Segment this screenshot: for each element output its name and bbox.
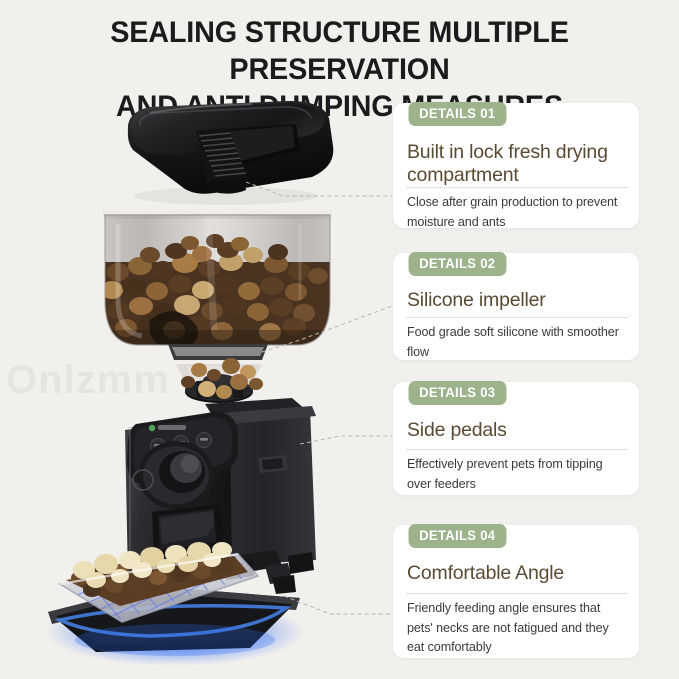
badge-details-04: DETAILS 04: [409, 524, 507, 548]
divider-3: [407, 449, 627, 450]
detail-heading-1: Built in lock fresh drying compartment: [407, 141, 627, 186]
divider-4: [407, 593, 627, 594]
lid-with-drying-compartment: [128, 101, 333, 205]
divider-2: [407, 317, 627, 318]
detail-heading-4: Comfortable Angle: [407, 562, 627, 585]
detail-body-4: Friendly feeding angle ensures that pets…: [407, 599, 629, 658]
food-hopper-with-kibble: [101, 210, 332, 360]
infographic-stage: Onlzmm SEALING STRUCTURE MULTIPLE PRESER…: [0, 0, 679, 679]
badge-details-03: DETAILS 03: [409, 381, 507, 405]
detail-heading-2: Silicone impeller: [407, 289, 627, 312]
divider-1: [407, 187, 627, 188]
detail-body-1: Close after grain production to prevent …: [407, 193, 629, 232]
detail-card-3[interactable]: DETAILS 03 Side pedals Effectively preve…: [393, 382, 639, 495]
detail-heading-3: Side pedals: [407, 419, 627, 442]
detail-body-3: Effectively prevent pets from tipping ov…: [407, 455, 629, 494]
badge-details-02: DETAILS 02: [409, 252, 507, 276]
detail-card-2[interactable]: DETAILS 02 Silicone impeller Food grade …: [393, 253, 639, 360]
detail-card-4[interactable]: DETAILS 04 Comfortable Angle Friendly fe…: [393, 525, 639, 658]
detail-body-2: Food grade soft silicone with smoother f…: [407, 323, 629, 362]
product-illustration: [0, 0, 400, 679]
badge-details-01: DETAILS 01: [409, 102, 507, 126]
silicone-impeller: [176, 358, 263, 403]
detail-card-1[interactable]: DETAILS 01 Built in lock fresh drying co…: [393, 103, 639, 228]
